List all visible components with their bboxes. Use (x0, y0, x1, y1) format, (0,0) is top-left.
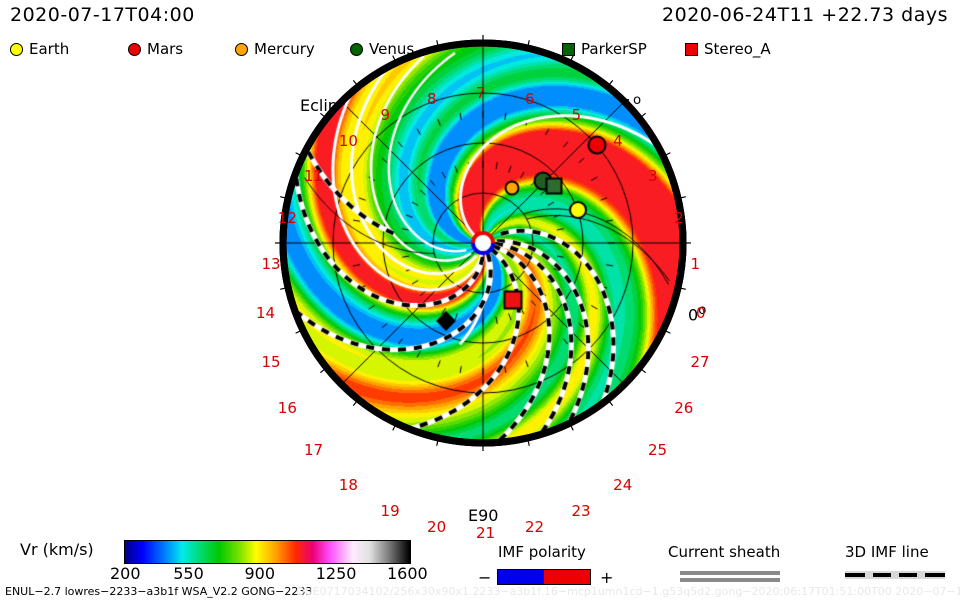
current-sheath-title: Current sheath (668, 543, 780, 561)
imf-negative-swatch (498, 570, 544, 584)
model-footer: ENUL−2.7 lowres−2233−a3b1f WSA_V2.2 GONG… (5, 585, 312, 598)
rim-tick-label: 12 (278, 209, 297, 227)
rim-tick-label: 26 (674, 399, 693, 417)
legend-label: Earth (29, 42, 69, 57)
legend-item-earth: Earth (10, 38, 69, 60)
rim-tick-label: 2 (674, 209, 684, 227)
current-sheath-line-2 (680, 578, 780, 582)
run-id-footer: QUE0717034102/256x30x90x1.2233−a3b1f.16−… (296, 585, 960, 598)
colorbar-tick: 1250 (316, 564, 357, 583)
current-sheath-line-1 (680, 571, 780, 575)
rim-tick-label: 13 (262, 255, 281, 273)
rim-tick-label: 16 (278, 399, 297, 417)
rim-tick-label: 25 (648, 441, 667, 459)
rim-tick-label: 10 (339, 132, 358, 150)
imf-polarity-bar (497, 569, 591, 585)
rim-tick-label: 9 (381, 106, 391, 124)
legend-marker-mars-icon (128, 43, 141, 56)
velocity-colorbar (124, 540, 411, 564)
rim-tick-label: 18 (339, 476, 358, 494)
rim-tick-label: 22 (525, 518, 544, 536)
rim-tick-label: 15 (262, 353, 281, 371)
rim-tick-label: 7 (476, 84, 486, 102)
rim-tick-label: 6 (525, 90, 535, 108)
legend-item-mars: Mars (128, 38, 183, 60)
imf3d-title: 3D IMF line (845, 543, 929, 561)
colorbar-tick: 200 (110, 564, 141, 583)
imf-positive-swatch (544, 570, 590, 584)
rim-tick-label: 11 (304, 167, 323, 185)
rim-tick-label: 4 (613, 132, 623, 150)
velocity-heatmap (283, 43, 683, 443)
east-90-label: E90 (468, 506, 498, 525)
colorbar-tick: 1600 (387, 564, 428, 583)
legend-label: Mars (147, 42, 183, 57)
rim-tick-label: 23 (571, 502, 590, 520)
simulation-date: 2020-07-17T04:00 (10, 4, 195, 26)
imf3d-line-sample (845, 571, 945, 579)
colorbar-tick: 550 (173, 564, 204, 583)
legend-label: Stereo_A (704, 42, 771, 57)
rim-tick-label: 0 (696, 304, 706, 322)
rim-tick-label: 20 (427, 518, 446, 536)
legend-item-stereo_a: Stereo_A (685, 38, 771, 60)
colorbar-tick: 900 (245, 564, 276, 583)
rim-tick-label: 24 (613, 476, 632, 494)
imf-polarity-title: IMF polarity (498, 543, 586, 561)
rim-tick-label: 3 (648, 167, 658, 185)
rim-tick-label: 27 (690, 353, 709, 371)
rim-tick-label: 1 (690, 255, 700, 273)
rim-tick-label: 21 (476, 524, 495, 542)
rim-tick-label: 19 (381, 502, 400, 520)
legend-marker-earth-icon (10, 43, 23, 56)
rim-tick-label: 5 (571, 106, 581, 124)
colorbar-label: Vr (km/s) (20, 540, 94, 559)
rim-tick-label: 14 (256, 304, 275, 322)
rim-tick-label: 17 (304, 441, 323, 459)
run-start-date: 2020-06-24T11 +22.73 days (662, 4, 948, 26)
legend-marker-mercury-icon (235, 43, 248, 56)
rim-tick-label: 8 (427, 90, 437, 108)
